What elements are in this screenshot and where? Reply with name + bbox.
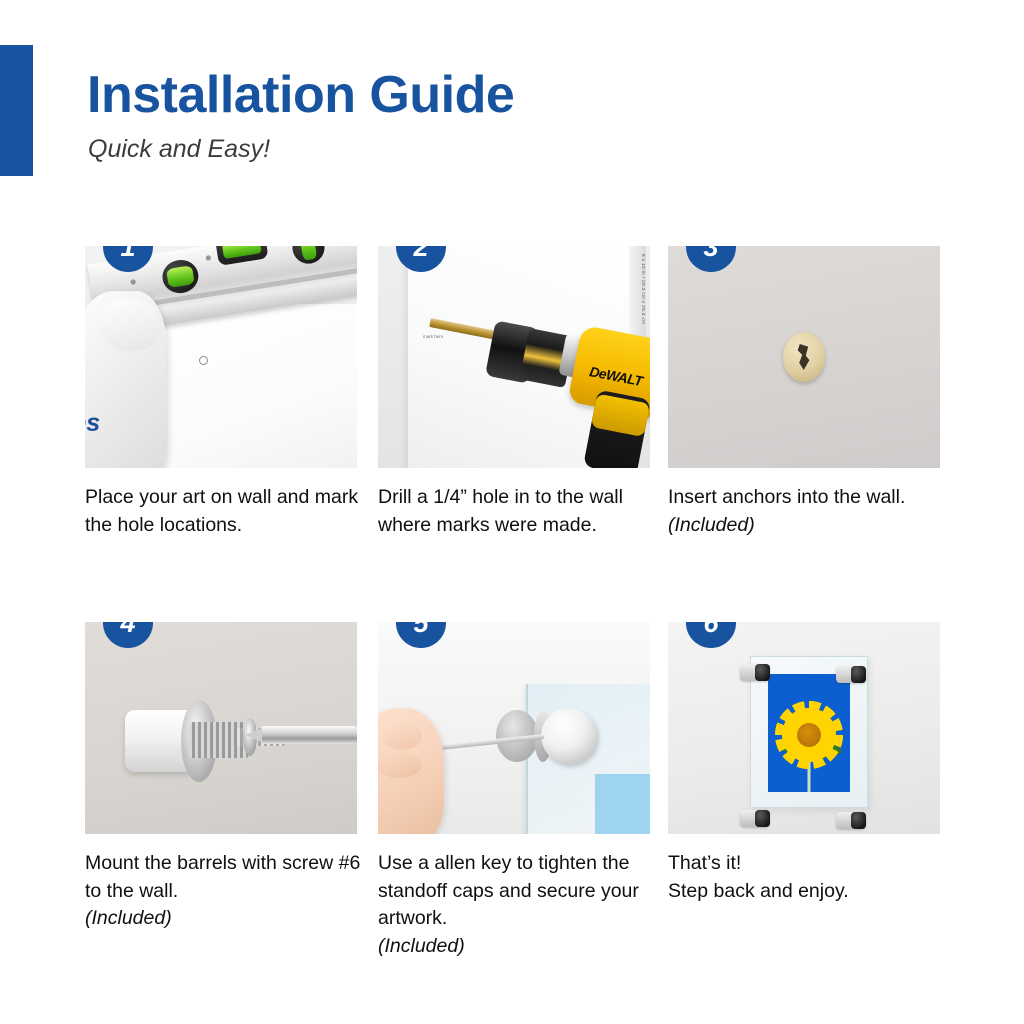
step-caption-3-text: Insert anchors into the wall. [668,486,905,508]
artwork-print [768,674,850,792]
step-caption-1: Place your art on wall and mark the hole… [85,484,365,539]
photo-finished-frame-sunflower: 6 [668,622,940,834]
sunflower-center [797,723,821,747]
mark-dot-icon [199,356,208,365]
step-1: 1 bs Place your art on w [85,246,357,539]
screwdriver [261,726,357,744]
step-4: 4 Mount the barrels with screw #6 to the… [85,622,357,933]
drill-mark-label: mark here [423,334,443,339]
photo-wall-anchor: 3 [668,246,940,468]
steps-grid: 1 bs Place your art on w [0,0,1024,1024]
photo-drill-hole: 2 8 x 10 in / 20.3 cm x 25.4 cm mark her… [378,246,650,468]
sunflower-petals [782,708,836,762]
standoff-cap [541,708,597,764]
gloved-hand: bs [85,291,167,468]
level-vial-right [290,246,327,266]
level-vial-center [215,246,269,266]
installation-guide-page: Installation Guide Quick and Easy! 1 [0,0,1024,1024]
step-caption-5-text: Use a allen key to tighten the standoff … [378,852,639,929]
step-caption-4: Mount the barrels with screw #6 to the w… [85,850,365,933]
finger-lower [378,752,422,778]
standoff-bottom-left [740,810,770,827]
step-badge-5: 5 [396,622,446,648]
step-caption-2: Drill a 1/4” hole in to the wall where m… [378,484,663,539]
photo-barrel-screw-screwdriver: 4 [85,622,357,834]
art-panel [157,304,357,468]
level-vial-left [160,257,201,295]
step-caption-3: Insert anchors into the wall. (Included) [668,484,953,539]
level-screw [130,279,136,285]
blue-artwork-corner [595,774,650,834]
anchor-hole [797,344,812,370]
step-caption-5: Use a allen key to tighten the standoff … [378,850,663,961]
drill-grip [591,393,650,437]
step-2: 2 8 x 10 in / 20.3 cm x 25.4 cm mark her… [378,246,650,539]
step-badge-4: 4 [103,622,153,648]
finger-upper [382,722,422,750]
photo-allen-key-standoff: 5 [378,622,650,834]
glove-logo: bs [85,409,133,443]
step-note-3: (Included) [668,514,755,536]
step-3: 3 Insert anchors into the wall. (Include… [668,246,940,539]
glove-thumb [97,299,159,351]
step-caption-4-text: Mount the barrels with screw #6 to the w… [85,852,360,902]
step-badge-6: 6 [686,622,736,648]
step-badge-3: 3 [686,246,736,272]
step-caption-6: That’s it! Step back and enjoy. [668,850,953,905]
drill-brand-label: DeWALT [588,363,644,389]
level-screw [205,255,211,261]
standoff-top-left [740,664,770,681]
photo-level-on-wall: 1 bs [85,246,357,468]
step-note-4: (Included) [85,905,365,933]
step-5: 5 Use a allen key to tighten the standof… [378,622,650,961]
standoff-top-right [836,666,866,683]
step-note-5: (Included) [378,933,663,961]
step-6: 6 That’s it! Step back and enjoy. [668,622,940,905]
standoff-bottom-right [836,812,866,829]
hand [378,708,444,834]
wall-anchor [783,332,825,382]
